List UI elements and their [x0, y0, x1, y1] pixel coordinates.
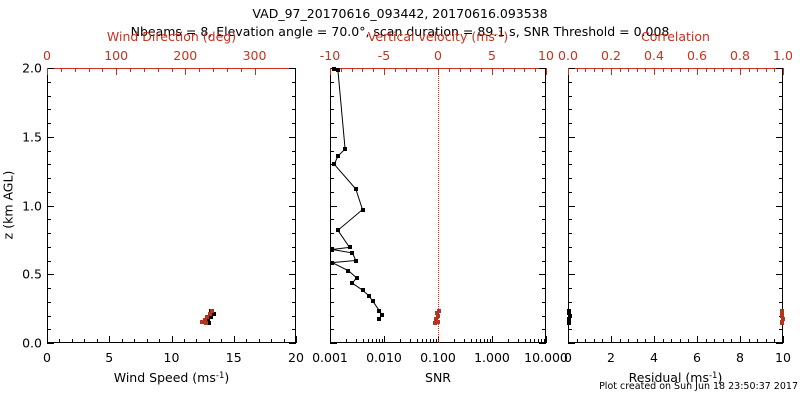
y-major-tick: [47, 68, 54, 69]
bottom-major-tick: [546, 336, 547, 343]
data-point: [780, 321, 784, 325]
y-minor-tick: [330, 302, 334, 303]
bottom-minor-tick: [530, 339, 531, 343]
bottom-minor-tick: [209, 339, 210, 343]
top-minor-tick: [671, 68, 672, 72]
top-minor-tick: [645, 68, 646, 72]
bottom-minor-tick: [454, 339, 455, 343]
bottom-minor-tick: [490, 339, 491, 343]
bottom-minor-tick: [577, 339, 578, 343]
y-major-tick: [539, 206, 546, 207]
y-minor-tick: [47, 329, 51, 330]
top-minor-tick: [199, 68, 200, 72]
top-major-tick: [384, 68, 385, 75]
bottom-minor-tick: [246, 339, 247, 343]
figure-title: VAD_97_20170616_093442, 20170616.093538: [252, 8, 547, 21]
y-minor-tick: [542, 109, 546, 110]
bottom-minor-tick: [645, 339, 646, 343]
bottom-minor-tick: [363, 339, 364, 343]
y-major-tick: [776, 137, 783, 138]
bottom-minor-tick: [534, 339, 535, 343]
y-major-tick: [568, 206, 575, 207]
y-minor-tick: [568, 109, 572, 110]
bottom-minor-tick: [538, 339, 539, 343]
y-major-tick: [568, 343, 575, 344]
data-point: [367, 294, 371, 298]
y-major-tick: [289, 68, 296, 69]
y-minor-tick: [330, 82, 334, 83]
bottom-minor-tick: [196, 339, 197, 343]
y-minor-tick: [292, 164, 296, 165]
y-major-tick: [330, 343, 337, 344]
bottom-major-tick: [172, 336, 173, 343]
bottom-minor-tick: [671, 339, 672, 343]
bottom-minor-tick: [72, 339, 73, 343]
top-minor-tick: [766, 68, 767, 72]
top-tick-label: 10: [538, 48, 554, 63]
y-minor-tick: [47, 233, 51, 234]
bottom-minor-tick: [637, 339, 638, 343]
bottom-minor-tick: [59, 339, 60, 343]
top-minor-tick: [535, 68, 536, 72]
bottom-major-tick: [234, 336, 235, 343]
y-minor-tick: [292, 316, 296, 317]
y-minor-tick: [47, 96, 51, 97]
y-minor-tick: [779, 123, 783, 124]
top-minor-tick: [714, 68, 715, 72]
top-minor-tick: [75, 68, 76, 72]
bottom-major-tick: [384, 336, 385, 343]
bottom-minor-tick: [464, 339, 465, 343]
bottom-major-tick: [330, 336, 331, 343]
bottom-tick-label: 2: [607, 350, 615, 365]
data-point: [348, 245, 352, 249]
bottom-minor-tick: [84, 339, 85, 343]
plot-frame-residual: [568, 68, 783, 343]
y-minor-tick: [292, 288, 296, 289]
top-minor-tick: [352, 68, 353, 72]
top-minor-tick: [723, 68, 724, 72]
bottom-minor-tick: [749, 339, 750, 343]
y-minor-tick: [568, 96, 572, 97]
bottom-minor-tick: [400, 339, 401, 343]
y-minor-tick: [779, 178, 783, 179]
y-major-tick: [47, 137, 54, 138]
y-minor-tick: [779, 261, 783, 262]
y-minor-tick: [568, 123, 572, 124]
y-major-tick: [539, 274, 546, 275]
bottom-minor-tick: [602, 339, 603, 343]
bottom-minor-tick: [774, 339, 775, 343]
top-major-tick: [330, 68, 331, 75]
data-point: [361, 288, 365, 292]
y-major-tick: [568, 274, 575, 275]
bottom-minor-tick: [379, 339, 380, 343]
bottom-axis-label-wind: Wind Speed (ms-1): [114, 370, 230, 385]
y-major-tick: [289, 206, 296, 207]
top-major-tick: [546, 68, 547, 75]
bottom-minor-tick: [346, 339, 347, 343]
y-tick-label: 1.0: [14, 198, 42, 213]
bottom-minor-tick: [757, 339, 758, 343]
top-minor-tick: [706, 68, 707, 72]
y-minor-tick: [292, 178, 296, 179]
top-minor-tick: [602, 68, 603, 72]
y-tick-label: 2.0: [14, 61, 42, 76]
y-major-tick: [289, 274, 296, 275]
bottom-minor-tick: [714, 339, 715, 343]
bottom-minor-tick: [147, 339, 148, 343]
y-major-tick: [330, 206, 337, 207]
bottom-minor-tick: [508, 339, 509, 343]
bottom-minor-tick: [471, 339, 472, 343]
y-minor-tick: [292, 302, 296, 303]
top-tick-label: 100: [104, 48, 128, 63]
bottom-tick-label: 6: [693, 350, 701, 365]
y-minor-tick: [779, 233, 783, 234]
top-minor-tick: [213, 68, 214, 72]
top-tick-label: 0.4: [644, 48, 664, 63]
data-point: [332, 162, 336, 166]
data-point: [204, 321, 208, 325]
y-minor-tick: [47, 151, 51, 152]
y-tick-label: 0.5: [14, 267, 42, 282]
bottom-minor-tick: [184, 339, 185, 343]
bottom-minor-tick: [766, 339, 767, 343]
y-minor-tick: [568, 151, 572, 152]
top-major-tick: [47, 68, 48, 75]
top-tick-label: 0.0: [558, 48, 578, 63]
bottom-minor-tick: [620, 339, 621, 343]
top-minor-tick: [460, 68, 461, 72]
y-minor-tick: [47, 164, 51, 165]
y-major-tick: [776, 68, 783, 69]
y-minor-tick: [330, 288, 334, 289]
y-minor-tick: [779, 151, 783, 152]
bottom-tick-label: 15: [226, 350, 242, 365]
y-minor-tick: [292, 123, 296, 124]
top-minor-tick: [757, 68, 758, 72]
y-minor-tick: [542, 329, 546, 330]
bottom-tick-label: 8: [736, 350, 744, 365]
bottom-major-tick: [109, 336, 110, 343]
bottom-tick-label: 10: [775, 350, 791, 365]
top-major-tick: [611, 68, 612, 75]
data-point: [330, 261, 334, 265]
y-minor-tick: [47, 288, 51, 289]
top-major-tick: [255, 68, 256, 75]
y-minor-tick: [292, 247, 296, 248]
top-axis-line-residual: [568, 68, 783, 69]
bottom-tick-label: 1.000: [474, 350, 510, 365]
top-minor-tick: [688, 68, 689, 72]
top-minor-tick: [585, 68, 586, 72]
bottom-minor-tick: [97, 339, 98, 343]
y-minor-tick: [542, 233, 546, 234]
y-minor-tick: [568, 164, 572, 165]
data-point: [355, 276, 359, 280]
data-point: [336, 154, 340, 158]
bottom-minor-tick: [525, 339, 526, 343]
bottom-minor-tick: [122, 339, 123, 343]
y-minor-tick: [779, 288, 783, 289]
y-minor-tick: [779, 82, 783, 83]
y-major-tick: [330, 137, 337, 138]
top-minor-tick: [577, 68, 578, 72]
y-minor-tick: [292, 219, 296, 220]
bottom-tick-label: 0.001: [312, 350, 348, 365]
top-minor-tick: [503, 68, 504, 72]
bottom-tick-label: 5: [105, 350, 113, 365]
y-minor-tick: [542, 164, 546, 165]
y-minor-tick: [47, 109, 51, 110]
y-minor-tick: [568, 219, 572, 220]
y-minor-tick: [47, 302, 51, 303]
data-point: [354, 187, 358, 191]
top-minor-tick: [241, 68, 242, 72]
y-minor-tick: [568, 233, 572, 234]
top-tick-label: 5: [488, 48, 496, 63]
y-minor-tick: [542, 288, 546, 289]
top-minor-tick: [395, 68, 396, 72]
bottom-minor-tick: [410, 339, 411, 343]
top-minor-tick: [620, 68, 621, 72]
y-minor-tick: [330, 151, 334, 152]
bottom-tick-label: 10: [164, 350, 180, 365]
top-minor-tick: [416, 68, 417, 72]
top-minor-tick: [172, 68, 173, 72]
top-axis-label-snr: Vertical velocity (ms-1): [368, 29, 509, 44]
data-point: [350, 251, 354, 255]
y-minor-tick: [568, 261, 572, 262]
y-minor-tick: [330, 96, 334, 97]
bottom-minor-tick: [706, 339, 707, 343]
y-minor-tick: [330, 219, 334, 220]
top-tick-label: 0: [434, 48, 442, 63]
bottom-minor-tick: [417, 339, 418, 343]
top-tick-label: 0.2: [601, 48, 621, 63]
plot-frame-wind: [47, 68, 296, 343]
bottom-minor-tick: [628, 339, 629, 343]
top-major-tick: [568, 68, 569, 75]
top-minor-tick: [158, 68, 159, 72]
y-major-tick: [330, 274, 337, 275]
y-minor-tick: [542, 219, 546, 220]
bottom-minor-tick: [688, 339, 689, 343]
y-minor-tick: [779, 164, 783, 165]
top-minor-tick: [144, 68, 145, 72]
y-minor-tick: [542, 316, 546, 317]
data-point: [336, 68, 340, 72]
y-minor-tick: [292, 151, 296, 152]
data-point: [350, 281, 354, 285]
bottom-minor-tick: [382, 339, 383, 343]
bottom-minor-tick: [680, 339, 681, 343]
top-minor-tick: [774, 68, 775, 72]
y-minor-tick: [330, 178, 334, 179]
y-minor-tick: [292, 96, 296, 97]
y-major-tick: [47, 343, 54, 344]
bottom-minor-tick: [518, 339, 519, 343]
bottom-major-tick: [47, 336, 48, 343]
y-minor-tick: [292, 109, 296, 110]
bottom-major-tick: [654, 336, 655, 343]
top-minor-tick: [481, 68, 482, 72]
y-minor-tick: [47, 247, 51, 248]
y-tick-label: 1.5: [14, 129, 42, 144]
data-point: [330, 248, 334, 252]
top-minor-tick: [594, 68, 595, 72]
y-minor-tick: [47, 219, 51, 220]
top-major-tick: [492, 68, 493, 75]
bottom-minor-tick: [541, 339, 542, 343]
top-tick-label: 200: [173, 48, 197, 63]
top-tick-label: -10: [320, 48, 340, 63]
bottom-minor-tick: [433, 339, 434, 343]
y-major-tick: [568, 137, 575, 138]
bottom-axis-label-residual: Residual (ms-1): [629, 370, 723, 385]
bottom-minor-tick: [376, 339, 377, 343]
top-tick-label: 0: [43, 48, 51, 63]
y-minor-tick: [542, 96, 546, 97]
y-minor-tick: [779, 219, 783, 220]
bottom-minor-tick: [723, 339, 724, 343]
top-major-tick: [116, 68, 117, 75]
top-minor-tick: [102, 68, 103, 72]
bottom-minor-tick: [271, 339, 272, 343]
bottom-minor-tick: [356, 339, 357, 343]
bottom-minor-tick: [284, 339, 285, 343]
y-minor-tick: [542, 123, 546, 124]
top-minor-tick: [341, 68, 342, 72]
top-tick-label: 1.0: [773, 48, 793, 63]
top-minor-tick: [427, 68, 428, 72]
bottom-minor-tick: [585, 339, 586, 343]
y-minor-tick: [779, 109, 783, 110]
y-major-tick: [539, 343, 546, 344]
y-major-tick: [289, 137, 296, 138]
y-major-tick: [539, 68, 546, 69]
y-minor-tick: [330, 109, 334, 110]
top-minor-tick: [362, 68, 363, 72]
top-major-tick: [783, 68, 784, 75]
data-point: [354, 259, 358, 263]
top-minor-tick: [524, 68, 525, 72]
bottom-minor-tick: [731, 339, 732, 343]
y-minor-tick: [542, 192, 546, 193]
top-axis-label-wind: Wind Direction (deg): [107, 29, 236, 44]
y-minor-tick: [779, 247, 783, 248]
bottom-tick-label: 4: [650, 350, 658, 365]
bottom-minor-tick: [372, 339, 373, 343]
bottom-minor-tick: [430, 339, 431, 343]
y-minor-tick: [292, 192, 296, 193]
y-minor-tick: [568, 302, 572, 303]
y-minor-tick: [542, 82, 546, 83]
top-minor-tick: [61, 68, 62, 72]
bottom-major-tick: [492, 336, 493, 343]
data-point: [361, 208, 365, 212]
data-point: [336, 228, 340, 232]
data-point: [433, 321, 437, 325]
y-minor-tick: [292, 82, 296, 83]
y-minor-tick: [568, 329, 572, 330]
top-minor-tick: [406, 68, 407, 72]
data-point: [343, 147, 347, 151]
bottom-minor-tick: [259, 339, 260, 343]
bottom-minor-tick: [422, 339, 423, 343]
bottom-minor-tick: [544, 339, 545, 343]
bottom-minor-tick: [663, 339, 664, 343]
y-minor-tick: [330, 192, 334, 193]
y-minor-tick: [330, 233, 334, 234]
top-minor-tick: [731, 68, 732, 72]
bottom-major-tick: [697, 336, 698, 343]
bottom-major-tick: [740, 336, 741, 343]
top-tick-label: 0.8: [730, 48, 750, 63]
y-minor-tick: [47, 178, 51, 179]
top-minor-tick: [680, 68, 681, 72]
top-minor-tick: [373, 68, 374, 72]
y-major-tick: [776, 206, 783, 207]
bottom-minor-tick: [159, 339, 160, 343]
bottom-minor-tick: [436, 339, 437, 343]
data-point: [567, 321, 571, 325]
bottom-major-tick: [568, 336, 569, 343]
bottom-major-tick: [611, 336, 612, 343]
figure-canvas: VAD_97_20170616_093442, 20170616.093538 …: [0, 0, 800, 400]
y-minor-tick: [542, 151, 546, 152]
top-minor-tick: [130, 68, 131, 72]
bottom-minor-tick: [594, 339, 595, 343]
y-minor-tick: [330, 329, 334, 330]
data-point: [377, 317, 381, 321]
top-minor-tick: [628, 68, 629, 72]
bottom-tick-label: 10.000: [524, 350, 568, 365]
top-minor-tick: [514, 68, 515, 72]
y-minor-tick: [779, 192, 783, 193]
y-major-tick: [47, 206, 54, 207]
top-minor-tick: [749, 68, 750, 72]
bottom-minor-tick: [480, 339, 481, 343]
y-minor-tick: [779, 96, 783, 97]
data-point: [346, 269, 350, 273]
bottom-minor-tick: [134, 339, 135, 343]
top-axis-label-residual: Correlation: [641, 29, 710, 44]
y-tick-label: 0.0: [14, 336, 42, 351]
y-minor-tick: [568, 247, 572, 248]
top-tick-label: 300: [243, 48, 267, 63]
zero-reference-line: [438, 68, 439, 343]
bottom-tick-label: 0: [43, 350, 51, 365]
bottom-minor-tick: [368, 339, 369, 343]
top-minor-tick: [227, 68, 228, 72]
top-major-tick: [740, 68, 741, 75]
y-minor-tick: [568, 178, 572, 179]
bottom-minor-tick: [476, 339, 477, 343]
y-minor-tick: [542, 178, 546, 179]
top-tick-label: 0.6: [687, 48, 707, 63]
y-minor-tick: [47, 123, 51, 124]
y-major-tick: [776, 274, 783, 275]
bottom-minor-tick: [484, 339, 485, 343]
bottom-major-tick: [296, 336, 297, 343]
top-minor-tick: [449, 68, 450, 72]
bottom-minor-tick: [426, 339, 427, 343]
y-minor-tick: [568, 82, 572, 83]
y-minor-tick: [47, 192, 51, 193]
top-major-tick: [185, 68, 186, 75]
